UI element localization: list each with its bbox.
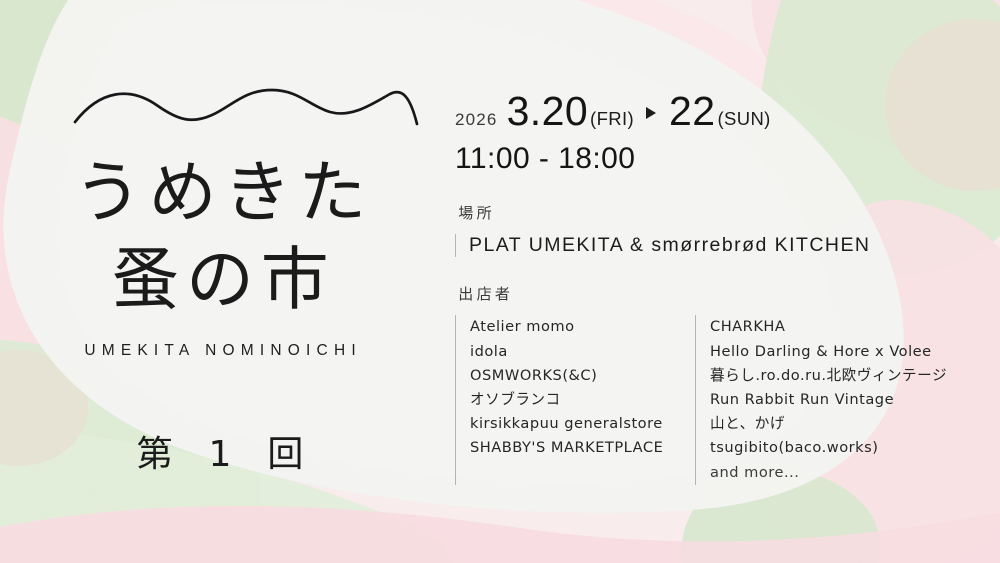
exhibitor-list-item: SHABBY'S MARKETPLACE (470, 436, 687, 460)
event-time: 11:00 - 18:00 (455, 142, 955, 176)
event-info: 2026 3.20 (FRI) 22 (SUN) 11:00 - 18:00 場… (455, 88, 955, 485)
exhibitor-list-item: 山と、かげ (710, 412, 947, 436)
title-line-1: うめきた (0, 150, 440, 237)
exhibitor-list-item: idola (470, 340, 687, 364)
exhibitor-column-left: Atelier momoidolaOSMWORKS(&C)オソブランコkirsi… (455, 315, 687, 485)
event-start-date: 3.20 (507, 88, 588, 135)
venue-rule: PLAT UMEKITA & smørrebrød KITCHEN (455, 234, 955, 257)
exhibitor-list-item: オソブランコ (470, 388, 687, 412)
edition-number: 第 1 回 (0, 425, 440, 477)
title-line-2: 蚤の市 (0, 237, 440, 324)
wavy-line-icon (72, 84, 420, 130)
venue-section: 場所 PLAT UMEKITA & smørrebrød KITCHEN (455, 202, 955, 257)
exhibitor-list-item: Hello Darling & Hore x Volee (710, 340, 947, 364)
event-year: 2026 (455, 110, 498, 130)
event-poster: うめきた 蚤の市 UMEKITA NOMINOICHI 第 1 回 2026 3… (0, 0, 1000, 563)
exhibitor-list-item: 暮らし.ro.do.ru.北欧ヴィンテージ (710, 364, 947, 388)
event-end-dow: (SUN) (717, 108, 770, 130)
exhibitor-list-item: and more... (710, 461, 947, 485)
exhibitor-list-item: Run Rabbit Run Vintage (710, 388, 947, 412)
arrow-right-triangle-icon (646, 107, 656, 119)
event-start-dow: (FRI) (590, 108, 634, 130)
venue-heading: 場所 (455, 202, 955, 223)
exhibitor-list-item: CHARKHA (710, 315, 947, 339)
exhibitors-heading: 出店者 (455, 283, 955, 304)
exhibitor-list-item: Atelier momo (470, 315, 687, 339)
event-end-date: 22 (669, 88, 715, 135)
exhibitor-list-item: tsugibito(baco.works) (710, 436, 947, 460)
exhibitors-section: 出店者 Atelier momoidolaOSMWORKS(&C)オソブランコk… (455, 283, 955, 485)
exhibitor-column-right: CHARKHAHello Darling & Hore x Volee暮らし.r… (695, 315, 947, 485)
title-romaji: UMEKITA NOMINOICHI (0, 342, 440, 360)
title-block: うめきた 蚤の市 UMEKITA NOMINOICHI (0, 150, 440, 360)
exhibitors-columns: Atelier momoidolaOSMWORKS(&C)オソブランコkirsi… (455, 315, 955, 485)
venue-name: PLAT UMEKITA & smørrebrød KITCHEN (469, 234, 955, 257)
exhibitor-list-item: kirsikkapuu generalstore (470, 412, 687, 436)
event-date-line: 2026 3.20 (FRI) 22 (SUN) (455, 88, 955, 136)
exhibitor-list-item: OSMWORKS(&C) (470, 364, 687, 388)
